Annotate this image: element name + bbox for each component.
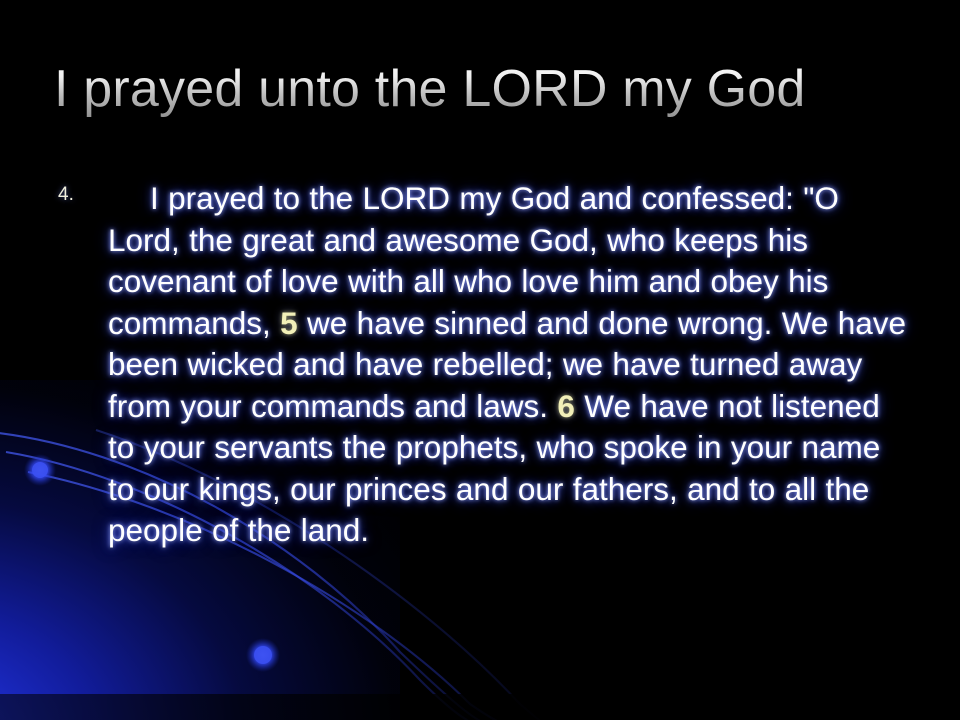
- slide-canvas: I prayed unto the LORD my God 4. I praye…: [0, 0, 960, 720]
- verse-number: 6: [557, 388, 575, 424]
- glow-dot-1-core: [32, 462, 48, 478]
- glow-dot-2: [246, 638, 280, 672]
- glow-dot-2-core: [254, 646, 272, 664]
- scripture-paragraph: I prayed to the LORD my God and confesse…: [108, 178, 912, 552]
- slide-title: I prayed unto the LORD my God: [54, 58, 914, 120]
- slide-body: 4. I prayed to the LORD my God and confe…: [52, 178, 912, 552]
- verse-number: 5: [280, 305, 298, 341]
- list-marker: 4.: [58, 184, 74, 206]
- bottom-shade-bar: [0, 694, 960, 720]
- list-item: 4. I prayed to the LORD my God and confe…: [52, 178, 912, 552]
